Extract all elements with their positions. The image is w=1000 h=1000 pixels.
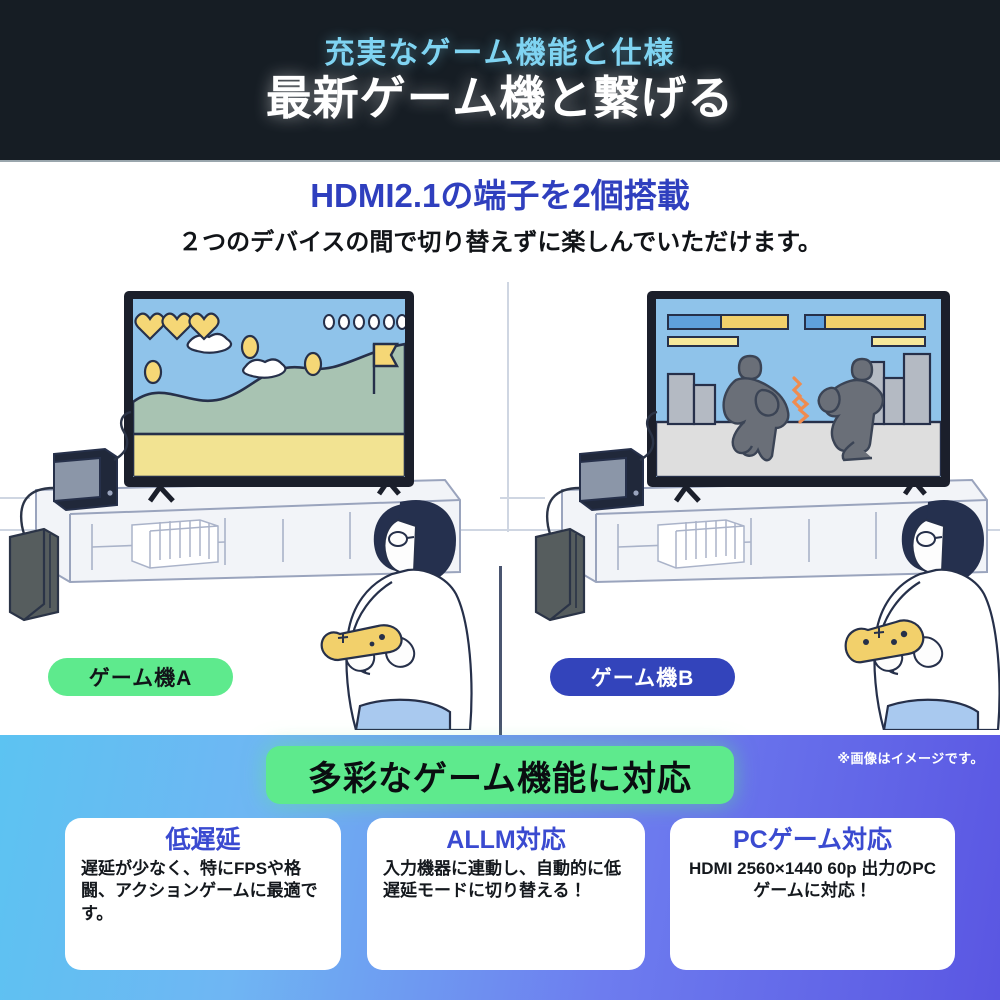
badge-game-machine-b: ゲーム機B	[550, 658, 735, 696]
feature-card-title: PCゲーム対応	[680, 826, 945, 855]
header-divider-rule	[0, 160, 1000, 162]
features-banner-label: 多彩なゲーム機能に対応	[308, 751, 692, 800]
feature-card-body: HDMI 2560×1440 60p 出力のPCゲームに対応！	[680, 858, 945, 903]
image-disclaimer-note: ※画像はイメージです。	[837, 748, 984, 767]
features-banner: 多彩なゲーム機能に対応	[266, 746, 734, 804]
page-header: 充実なゲーム機能と仕様 最新ゲーム機と繋げる	[0, 0, 1000, 160]
game-console-b	[580, 449, 643, 510]
badge-b-label: ゲーム機B	[591, 662, 695, 692]
features-section: ※画像はイメージです。 多彩なゲーム機能に対応 低遅延 遅延が少なく、特にFPS…	[0, 735, 1000, 1000]
subhead-title: HDMI2.1の端子を2個搭載	[310, 176, 690, 216]
game-console-a	[54, 449, 117, 510]
badge-a-label: ゲーム機A	[89, 662, 193, 692]
feature-card: 低遅延 遅延が少なく、特にFPSや格闘、アクションゲームに最適です。	[65, 818, 341, 970]
feature-card-title: 低遅延	[75, 826, 331, 855]
subhead-block: HDMI2.1の端子を2個搭載 ２つのデバイスの間で切り替えずに楽しんでいただけ…	[0, 176, 1000, 257]
tv-right	[647, 291, 950, 501]
badge-game-machine-a: ゲーム機A	[48, 658, 233, 696]
feature-card-title: ALLM対応	[377, 826, 635, 855]
feature-card: PCゲーム対応 HDMI 2560×1440 60p 出力のPCゲームに対応！	[670, 818, 955, 970]
page-root: 充実なゲーム機能と仕様 最新ゲーム機と繋げる HDMI2.1の端子を2個搭載 ２…	[0, 0, 1000, 1000]
tv-left	[124, 291, 414, 501]
header-subtitle: 充実なゲーム機能と仕様	[324, 38, 675, 70]
game-console-floor-b	[536, 529, 584, 620]
feature-card: ALLM対応 入力機器に連動し、自動的に低遅延モードに切り替える！	[367, 818, 645, 970]
page-title: 最新ゲーム機と繋げる	[266, 74, 735, 122]
game-console-floor-a	[10, 529, 58, 620]
feature-card-body: 遅延が少なく、特にFPSや格闘、アクションゲームに最適です。	[75, 858, 331, 926]
feature-card-list: 低遅延 遅延が少なく、特にFPSや格闘、アクションゲームに最適です。 ALLM対…	[0, 818, 1000, 973]
subhead-description: ２つのデバイスの間で切り替えずに楽しんでいただけます。	[178, 222, 822, 257]
feature-card-body: 入力機器に連動し、自動的に低遅延モードに切り替える！	[377, 858, 635, 903]
